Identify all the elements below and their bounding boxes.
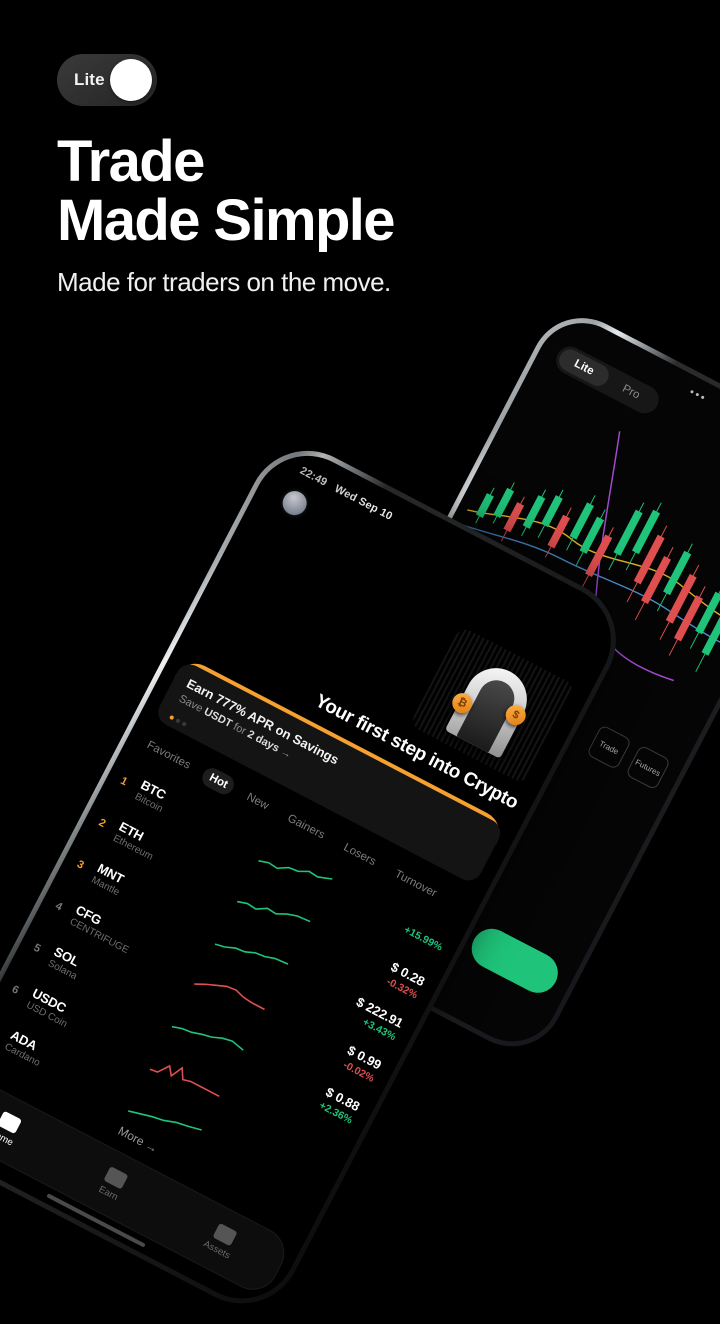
page-subtitle: Made for traders on the move. [57, 267, 391, 298]
coin-rank: 6 [10, 983, 30, 1001]
promo-suffix: → [276, 744, 294, 761]
coin-rank: 3 [75, 858, 95, 876]
futures-tile[interactable]: Futures [625, 745, 671, 791]
coin-price-group [251, 1165, 312, 1198]
more-dots-icon [690, 390, 705, 400]
promo-pagination-dots[interactable] [169, 715, 187, 727]
tabbar-item-home[interactable]: Home [0, 1109, 24, 1148]
lite-mode-toggle[interactable]: Lite [57, 54, 157, 106]
coin-change [273, 1125, 333, 1156]
coin-price [252, 1165, 312, 1196]
tabbar-item-earn[interactable]: Earn [97, 1166, 129, 1203]
coin-price-group [273, 1123, 334, 1156]
coin-price [274, 1123, 334, 1154]
coin-rank: 4 [53, 900, 73, 918]
page-title: Trade Made Simple [57, 133, 394, 250]
coin-rank: 1 [119, 775, 139, 793]
buy-button[interactable] [465, 922, 565, 1000]
headline-line-2: Made Simple [57, 192, 394, 250]
pro-action-tiles: Trade Futures [586, 724, 671, 790]
trade-tile[interactable]: Trade [586, 724, 632, 770]
coin-change [251, 1167, 311, 1198]
status-time: 22:49 [298, 465, 329, 489]
coin-rank: 7 [0, 1025, 8, 1043]
hero-section: Lite Trade Made Simple Made for traders … [0, 0, 720, 330]
home-icon [0, 1110, 22, 1133]
coin-rank: 5 [32, 941, 52, 959]
headline-line-1: Trade [57, 129, 204, 194]
segment-pro[interactable]: Pro [602, 370, 659, 414]
coin-rank: 2 [97, 816, 117, 834]
segment-lite[interactable]: Lite [555, 346, 612, 390]
status-date: Wed Sep 10 [333, 483, 395, 523]
tabbar-item-assets[interactable]: Assets [202, 1220, 242, 1261]
lite-toggle-label: Lite [57, 70, 105, 90]
toggle-knob[interactable] [110, 59, 152, 101]
